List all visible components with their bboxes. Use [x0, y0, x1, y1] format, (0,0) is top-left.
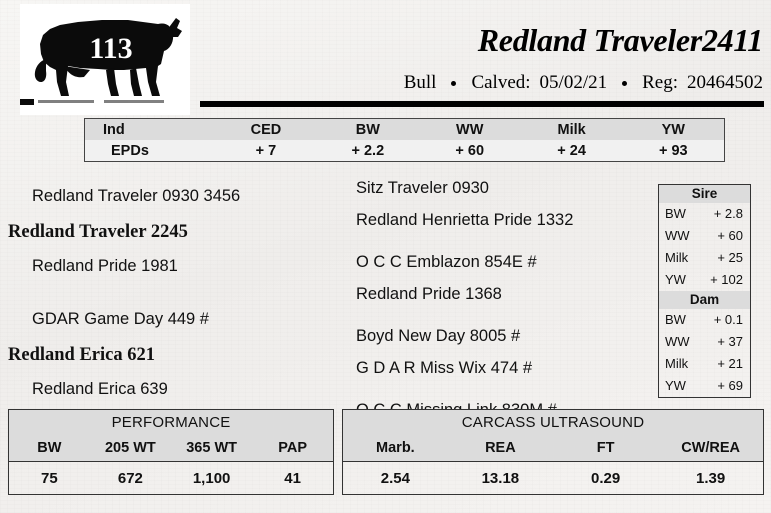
epd-value-milk: + 24 — [521, 140, 623, 162]
lot-number: 113 — [74, 34, 148, 64]
epd-col-milk: Milk — [521, 119, 623, 141]
epd-row-label-ind: Ind — [85, 119, 216, 141]
dam-value-milk: + 21 — [717, 353, 743, 375]
performance-value-205wt: 672 — [90, 462, 171, 495]
dam-value-bw: + 0.1 — [714, 309, 743, 331]
sire-row-bw: BW + 2.8 — [659, 203, 750, 225]
dam-row-bw: BW + 0.1 — [659, 309, 750, 331]
dam-section-header: Dam — [659, 291, 750, 309]
sire-key-bw: BW — [665, 203, 686, 225]
carcass-col-cwrea: CW/REA — [658, 435, 763, 462]
carcass-col-rea: REA — [448, 435, 553, 462]
pedigree-mid-line-4: Redland Pride 1368 — [356, 282, 656, 314]
reg-label: Reg: — [642, 72, 678, 94]
carcass-title: CARCASS ULTRASOUND — [343, 410, 764, 436]
sire-row-milk: Milk + 25 — [659, 247, 750, 269]
pedigree-mid-line-5: Boyd New Day 8005 # — [356, 324, 656, 356]
carcass-col-ft: FT — [553, 435, 658, 462]
epd-header-row: Ind CED BW WW Milk YW — [85, 119, 725, 141]
sire-value-milk: + 25 — [717, 247, 743, 269]
animal-sex: Bull — [404, 72, 437, 94]
carcass-value-ft: 0.29 — [553, 462, 658, 495]
performance-title-row: PERFORMANCE — [9, 410, 334, 436]
calved-date: 05/02/21 — [540, 72, 608, 94]
epd-values-row: EPDs + 7 + 2.2 + 60 + 24 + 93 — [85, 140, 725, 162]
epd-col-bw: BW — [317, 119, 419, 141]
pedigree-left-line-6: Redland Erica 639 — [6, 376, 346, 411]
bull-photo: 113 — [20, 4, 190, 115]
pedigree-mid-line-1: Sitz Traveler 0930 — [356, 176, 656, 208]
dam-row-yw: YW + 69 — [659, 375, 750, 397]
epd-value-bw: + 2.2 — [317, 140, 419, 162]
pedigree-left-line-3: Redland Pride 1981 — [6, 253, 346, 288]
animal-name-title: Redland Traveler2411 — [478, 22, 763, 59]
epd-col-yw: YW — [623, 119, 725, 141]
sire-dam-epd-box: Sire BW + 2.8 WW + 60 Milk + 25 YW + 102… — [658, 184, 751, 398]
epd-value-yw: + 93 — [623, 140, 725, 162]
epd-col-ced: CED — [215, 119, 317, 141]
dam-key-bw: BW — [665, 309, 686, 331]
pedigree-mid-gap-2 — [356, 314, 656, 324]
pedigree-mid-gap-1 — [356, 240, 656, 250]
epd-value-ww: + 60 — [419, 140, 521, 162]
catalog-page: 113 Redland Traveler2411 Bull Calved: 05… — [0, 0, 771, 513]
pedigree-mid-line-6: G D A R Miss Wix 474 # — [356, 356, 656, 388]
bullet-separator-icon — [451, 81, 456, 86]
epd-table: Ind CED BW WW Milk YW EPDs + 7 + 2.2 + 6… — [84, 118, 725, 162]
epd-col-ww: WW — [419, 119, 521, 141]
dam-key-ww: WW — [665, 331, 690, 353]
carcass-ultrasound-table: CARCASS ULTRASOUND Marb. REA FT CW/REA 2… — [342, 409, 764, 495]
sire-key-yw: YW — [665, 269, 686, 291]
dam-value-ww: + 37 — [717, 331, 743, 353]
performance-value-365wt: 1,100 — [171, 462, 252, 495]
performance-value-pap: 41 — [252, 462, 333, 495]
sire-key-ww: WW — [665, 225, 690, 247]
dam-row-ww: WW + 37 — [659, 331, 750, 353]
pedigree-left-dam: Redland Erica 621 — [6, 341, 346, 376]
performance-value-bw: 75 — [9, 462, 90, 495]
performance-col-205wt: 205 WT — [90, 435, 171, 462]
sire-section-header: Sire — [659, 185, 750, 203]
epd-row-label-epds: EPDs — [85, 140, 216, 162]
sire-row-yw: YW + 102 — [659, 269, 750, 291]
performance-table: PERFORMANCE BW 205 WT 365 WT PAP 75 672 … — [8, 409, 334, 495]
bullet-separator-icon-2 — [622, 81, 627, 86]
performance-col-pap: PAP — [252, 435, 333, 462]
pedigree-left-sire: Redland Traveler 2245 — [6, 218, 346, 253]
carcass-value-cwrea: 1.39 — [658, 462, 763, 495]
sire-row-ww: WW + 60 — [659, 225, 750, 247]
performance-title: PERFORMANCE — [9, 410, 334, 436]
pedigree-left-line-4: GDAR Game Day 449 # — [6, 306, 346, 341]
pedigree-mid-gap-3 — [356, 388, 656, 398]
carcass-value-rea: 13.18 — [448, 462, 553, 495]
sire-value-bw: + 2.8 — [714, 203, 743, 225]
carcass-header-row: Marb. REA FT CW/REA — [343, 435, 764, 462]
pedigree-left-line-1: Redland Traveler 0930 3456 — [6, 183, 346, 218]
pedigree-column-left: Redland Traveler 0930 3456 Redland Trave… — [6, 183, 346, 411]
performance-header-row: BW 205 WT 365 WT PAP — [9, 435, 334, 462]
animal-subtitle: Bull Calved: 05/02/21 Reg: 20464502 — [404, 72, 763, 94]
sire-value-ww: + 60 — [717, 225, 743, 247]
carcass-value-marb: 2.54 — [343, 462, 448, 495]
carcass-title-row: CARCASS ULTRASOUND — [343, 410, 764, 436]
epd-value-ced: + 7 — [215, 140, 317, 162]
performance-col-bw: BW — [9, 435, 90, 462]
carcass-col-marb: Marb. — [343, 435, 448, 462]
carcass-values-row: 2.54 13.18 0.29 1.39 — [343, 462, 764, 495]
calved-label: Calved: — [471, 72, 530, 94]
pedigree-mid-line-2: Redland Henrietta Pride 1332 — [356, 208, 656, 240]
dam-value-yw: + 69 — [717, 375, 743, 397]
performance-values-row: 75 672 1,100 41 — [9, 462, 334, 495]
pedigree-left-spacer — [6, 288, 346, 306]
pedigree-mid-line-3: O C C Emblazon 854E # — [356, 250, 656, 282]
sire-value-yw: + 102 — [710, 269, 743, 291]
dam-row-milk: Milk + 21 — [659, 353, 750, 375]
reg-number: 20464502 — [687, 72, 763, 94]
sire-key-milk: Milk — [665, 247, 688, 269]
dam-key-milk: Milk — [665, 353, 688, 375]
performance-col-365wt: 365 WT — [171, 435, 252, 462]
dam-key-yw: YW — [665, 375, 686, 397]
header-divider — [200, 101, 764, 107]
